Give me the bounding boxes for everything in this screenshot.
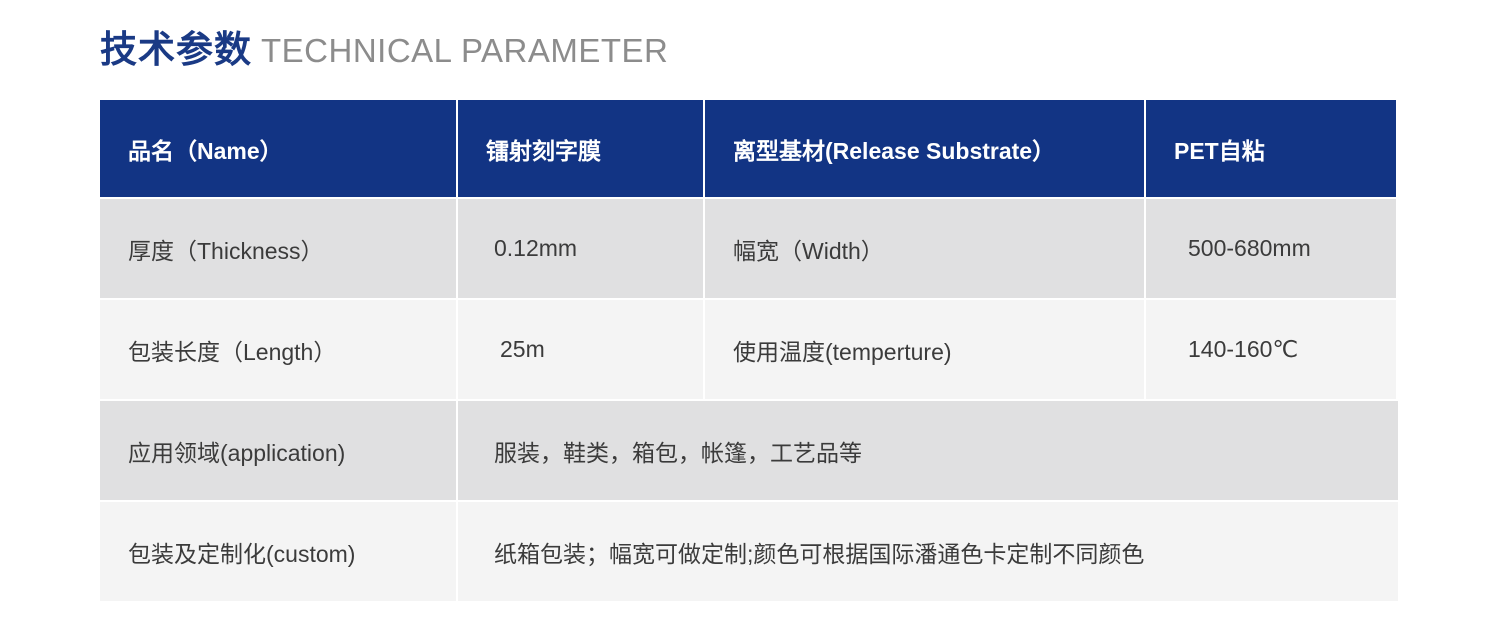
page-title: 技术参数 TECHNICAL PARAMETER (100, 31, 668, 68)
table-cell-application-value: 服装，鞋类，箱包，帐篷，工艺品等 (458, 401, 1398, 500)
technical-parameter-table: 品名（Name） 镭射刻字膜 离型基材(Release Substrate） P… (100, 100, 1398, 601)
technical-parameter-page: 技术参数 TECHNICAL PARAMETER 品名（Name） 镭射刻字膜 … (0, 0, 1500, 628)
table-row: 包装及定制化(custom) 纸箱包装；幅宽可做定制;颜色可根据国际潘通色卡定制… (100, 502, 1398, 601)
table-cell-length-value: 25m (458, 300, 703, 399)
table-row: 包装长度（Length） 25m 使用温度(temperture) 140-16… (100, 300, 1398, 399)
page-title-chinese: 技术参数 (100, 31, 252, 68)
table-cell-custom-label: 包装及定制化(custom) (100, 502, 456, 601)
table-cell-temperature-value: 140-160℃ (1146, 300, 1396, 399)
table-row: 应用领域(application) 服装，鞋类，箱包，帐篷，工艺品等 (100, 401, 1398, 500)
table-cell-width-value: 500-680mm (1146, 199, 1396, 298)
table-cell-width-label: 幅宽（Width） (705, 199, 1144, 298)
table-cell-application-label: 应用领域(application) (100, 401, 456, 500)
table-header-row: 品名（Name） 镭射刻字膜 离型基材(Release Substrate） P… (100, 100, 1398, 197)
table-cell-temperature-label: 使用温度(temperture) (705, 300, 1144, 399)
table-cell-length-label: 包装长度（Length） (100, 300, 456, 399)
table-cell-custom-value: 纸箱包装；幅宽可做定制;颜色可根据国际潘通色卡定制不同颜色 (458, 502, 1398, 601)
table-row: 厚度（Thickness） 0.12mm 幅宽（Width） 500-680mm (100, 199, 1398, 298)
table-cell-thickness-value: 0.12mm (458, 199, 703, 298)
table-header-cell-product: 镭射刻字膜 (458, 100, 703, 197)
table-header-cell-release-substrate: 离型基材(Release Substrate） (705, 100, 1144, 197)
page-title-english: TECHNICAL PARAMETER (261, 34, 668, 67)
table-header-cell-name: 品名（Name） (100, 100, 456, 197)
table-cell-thickness-label: 厚度（Thickness） (100, 199, 456, 298)
table-header-cell-pet: PET自粘 (1146, 100, 1396, 197)
